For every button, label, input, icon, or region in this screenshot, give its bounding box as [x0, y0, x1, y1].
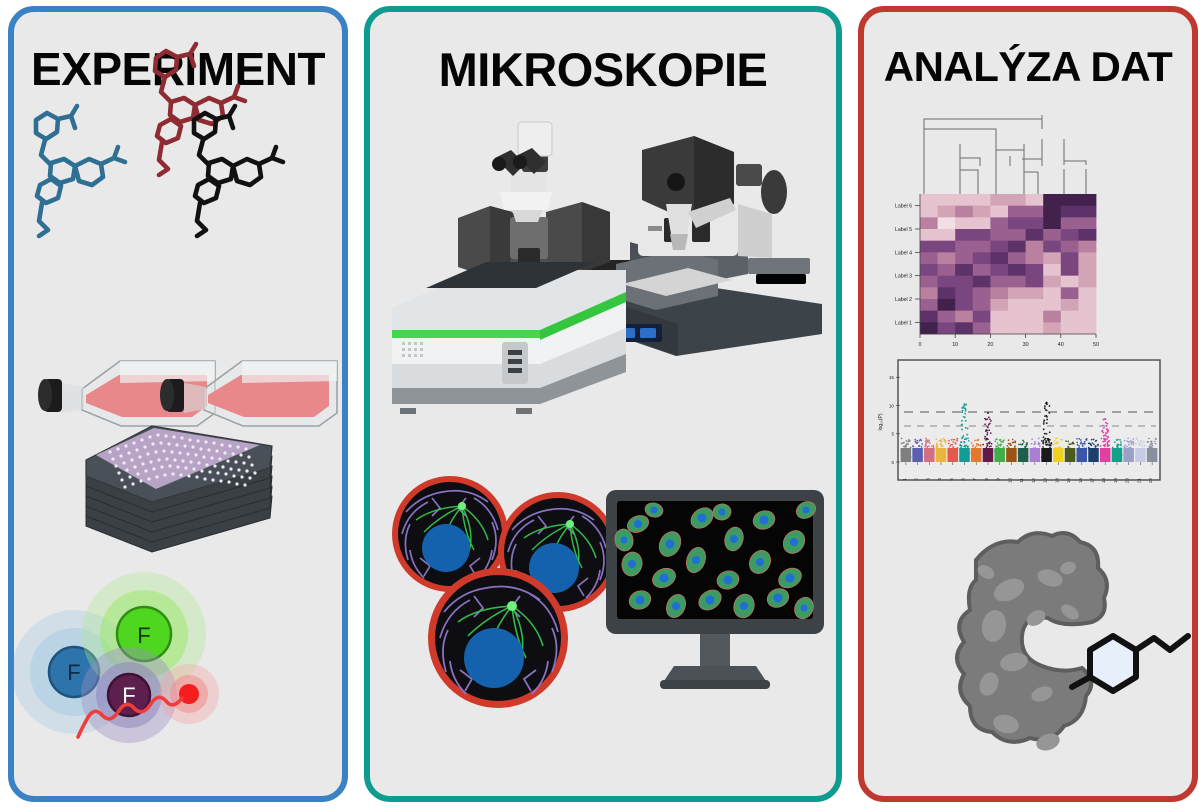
fluorophore-green-label: F	[137, 623, 150, 648]
manhattan-point	[1054, 448, 1056, 450]
manhattan-point	[1081, 453, 1083, 455]
heatmap-cell	[973, 276, 991, 288]
manhattan-point	[1140, 453, 1142, 455]
manhattan-point	[997, 442, 999, 444]
manhattan-point	[982, 444, 984, 446]
heatmap-x-tick-label: 40	[1058, 342, 1064, 348]
heatmap-cell	[1008, 322, 1026, 334]
heatmap-cell	[920, 311, 938, 323]
manhattan-point	[1136, 437, 1138, 439]
manhattan-point	[1000, 443, 1002, 445]
manhattan-point	[1090, 444, 1092, 446]
manhattan-point	[912, 451, 914, 453]
manhattan-point	[1013, 448, 1015, 450]
manhattan-x-tick-label: 3	[925, 478, 930, 481]
panel-experiment: EXPERIMENT	[8, 6, 348, 802]
heatmap-cell	[973, 229, 991, 241]
manhattan-point	[1091, 457, 1093, 459]
manhattan-peak-point	[962, 435, 964, 437]
manhattan-x-tick-label: 10	[1007, 478, 1012, 484]
manhattan-point	[1009, 457, 1011, 459]
manhattan-peak-point	[1045, 438, 1047, 440]
manhattan-point	[976, 443, 978, 445]
manhattan-point	[965, 438, 967, 440]
manhattan-peak-point	[984, 438, 986, 440]
heatmap-cell	[1026, 311, 1044, 323]
manhattan-peak-point	[986, 418, 988, 420]
manhattan-point	[916, 458, 918, 460]
manhattan-point	[1131, 442, 1133, 444]
heatmap-dendrogram: Label 1Label 2Label 3Label 4Label 5Label…	[895, 115, 1099, 348]
manhattan-point	[1152, 448, 1154, 450]
manhattan-point	[949, 457, 951, 459]
manhattan-point	[928, 445, 930, 447]
manhattan-point	[921, 446, 923, 448]
manhattan-point	[1061, 452, 1063, 454]
heatmap-cell	[1008, 241, 1026, 253]
manhattan-point	[1149, 455, 1151, 457]
manhattan-point	[1149, 444, 1151, 446]
manhattan-point	[1141, 445, 1143, 447]
manhattan-point	[1018, 452, 1020, 454]
manhattan-point	[1101, 450, 1103, 452]
manhattan-point	[921, 448, 923, 450]
manhattan-point	[1097, 444, 1099, 446]
manhattan-point	[1014, 452, 1016, 454]
manhattan-point	[1068, 452, 1070, 454]
manhattan-point	[967, 445, 969, 447]
manhattan-y-tick-label: 15	[889, 375, 895, 380]
manhattan-point	[903, 457, 905, 459]
manhattan-point	[1085, 452, 1087, 454]
heatmap-cell	[990, 252, 1008, 264]
manhattan-point	[1072, 454, 1074, 456]
heatmap-cell	[1078, 206, 1096, 218]
manhattan-point	[1057, 451, 1059, 453]
manhattan-point	[1046, 444, 1048, 446]
manhattan-point	[1035, 453, 1037, 455]
heatmap-cell	[1061, 311, 1079, 323]
manhattan-point	[916, 448, 918, 450]
manhattan-point	[960, 452, 962, 454]
manhattan-x-tick-label: 8	[984, 478, 989, 481]
manhattan-peak-point	[989, 441, 991, 443]
manhattan-point	[1046, 452, 1048, 454]
manhattan-point	[942, 445, 944, 447]
heatmap-cell	[920, 206, 938, 218]
manhattan-point	[1153, 452, 1155, 454]
manhattan-point	[957, 447, 959, 449]
heatmap-cell	[920, 194, 938, 206]
manhattan-point	[925, 444, 927, 446]
manhattan-point	[1059, 451, 1061, 453]
manhattan-point	[1034, 454, 1036, 456]
manhattan-point	[901, 449, 903, 451]
heatmap-cell	[1008, 311, 1026, 323]
manhattan-point	[978, 439, 980, 441]
manhattan-point	[956, 440, 958, 442]
manhattan-point	[984, 448, 986, 450]
heatmap-x-tick-label: 0	[919, 342, 922, 348]
manhattan-point	[931, 445, 933, 447]
manhattan-point	[1114, 441, 1116, 443]
manhattan-peak-point	[1046, 441, 1048, 443]
manhattan-point	[999, 450, 1001, 452]
heatmap-cell	[1026, 299, 1044, 311]
manhattan-point	[1025, 455, 1027, 457]
manhattan-point	[1071, 458, 1073, 460]
manhattan-point	[952, 441, 954, 443]
manhattan-peak-point	[1049, 405, 1051, 407]
manhattan-point	[1018, 444, 1020, 446]
manhattan-point	[1114, 456, 1116, 458]
manhattan-point	[1135, 443, 1137, 445]
manhattan-point	[1070, 448, 1072, 450]
manhattan-point	[927, 446, 929, 448]
manhattan-point	[1051, 442, 1053, 444]
manhattan-point	[996, 451, 998, 453]
manhattan-peak-point	[963, 407, 965, 409]
heatmap-cell	[955, 287, 973, 299]
manhattan-point	[1137, 440, 1139, 442]
manhattan-peak-point	[1046, 422, 1048, 424]
manhattan-point	[1151, 445, 1153, 447]
manhattan-point	[1152, 450, 1154, 452]
manhattan-point	[1057, 447, 1059, 449]
manhattan-point	[901, 438, 903, 440]
manhattan-point	[968, 440, 970, 442]
heatmap-cell	[1043, 206, 1061, 218]
manhattan-point	[1039, 445, 1041, 447]
manhattan-point	[1152, 453, 1154, 455]
heatmap-cell	[1026, 322, 1044, 334]
heatmap-cell	[1008, 194, 1026, 206]
manhattan-point	[1080, 441, 1082, 443]
manhattan-point	[1080, 439, 1082, 441]
manhattan-point	[1047, 440, 1049, 442]
manhattan-point	[1022, 457, 1024, 459]
manhattan-point	[1120, 453, 1122, 455]
manhattan-point	[1148, 438, 1150, 440]
heatmap-cell	[990, 194, 1008, 206]
heatmap-cell	[1043, 194, 1061, 206]
manhattan-peak-point	[984, 436, 986, 438]
manhattan-peak-point	[961, 420, 963, 422]
manhattan-point	[1124, 450, 1126, 452]
manhattan-point	[1053, 444, 1055, 446]
manhattan-point	[924, 453, 926, 455]
manhattan-peak-point	[963, 441, 965, 443]
manhattan-point	[921, 443, 923, 445]
manhattan-point	[937, 451, 939, 453]
manhattan-point	[1119, 439, 1121, 441]
manhattan-point	[926, 454, 928, 456]
manhattan-point	[1038, 438, 1040, 440]
heatmap-cell	[1078, 194, 1096, 206]
manhattan-point	[1003, 446, 1005, 448]
manhattan-point	[1108, 456, 1110, 458]
manhattan-point	[973, 450, 975, 452]
manhattan-point	[965, 455, 967, 457]
heatmap-cell	[1061, 194, 1079, 206]
manhattan-point	[1091, 442, 1093, 444]
manhattan-point	[1083, 458, 1085, 460]
manhattan-point	[1042, 446, 1044, 448]
heatmap-row-label: Label 4	[895, 250, 912, 256]
heatmap-cell	[1078, 299, 1096, 311]
manhattan-peak-point	[1104, 439, 1106, 441]
manhattan-point	[914, 449, 916, 451]
manhattan-point	[907, 443, 909, 445]
manhattan-point	[1060, 439, 1062, 441]
manhattan-point	[938, 453, 940, 455]
manhattan-point	[1031, 438, 1033, 440]
manhattan-point	[1086, 439, 1088, 441]
manhattan-point	[922, 456, 924, 458]
manhattan-point	[928, 441, 930, 443]
manhattan-peak-point	[967, 428, 969, 430]
heatmap-cell	[920, 241, 938, 253]
heatmap-cell	[920, 252, 938, 264]
manhattan-point	[971, 452, 973, 454]
manhattan-point	[1038, 442, 1040, 444]
manhattan-peak-point	[989, 423, 991, 425]
manhattan-point	[1143, 454, 1145, 456]
manhattan-point	[1050, 445, 1052, 447]
heatmap-cell	[955, 311, 973, 323]
manhattan-point	[984, 457, 986, 459]
heatmap-row-label: Label 3	[895, 274, 912, 280]
manhattan-point	[1007, 445, 1009, 447]
manhattan-point	[1035, 456, 1037, 458]
manhattan-point	[928, 458, 930, 460]
manhattan-x-tick-label: 6	[961, 478, 966, 481]
manhattan-point	[1022, 450, 1024, 452]
manhattan-point	[1082, 445, 1084, 447]
manhattan-point	[1015, 440, 1017, 442]
manhattan-point	[1055, 449, 1057, 451]
manhattan-peak-point	[986, 434, 988, 436]
manhattan-point	[1078, 447, 1080, 449]
heatmap-cell	[938, 217, 956, 229]
stained-cell-3	[428, 568, 568, 708]
heatmap-cell	[990, 229, 1008, 241]
manhattan-point	[1013, 449, 1015, 451]
heatmap-cell	[1061, 299, 1079, 311]
heatmap-cell	[920, 299, 938, 311]
manhattan-point	[1014, 457, 1016, 459]
heatmap-cell	[955, 229, 973, 241]
manhattan-point	[929, 455, 931, 457]
manhattan-point	[1089, 451, 1091, 453]
heatmap-cell	[973, 252, 991, 264]
heatmap-cell	[938, 229, 956, 241]
manhattan-point	[940, 447, 942, 449]
manhattan-point	[1120, 443, 1122, 445]
heatmap-row-label: Label 5	[895, 227, 912, 233]
manhattan-point	[1108, 445, 1110, 447]
heatmap-cell	[990, 299, 1008, 311]
molecule-cluster-black	[194, 106, 283, 236]
heatmap-cell	[1061, 206, 1079, 218]
manhattan-peak-point	[1046, 416, 1048, 418]
manhattan-point	[904, 446, 906, 448]
manhattan-point	[918, 450, 920, 452]
manhattan-point	[995, 448, 997, 450]
manhattan-point	[1055, 455, 1057, 457]
manhattan-point	[1048, 445, 1050, 447]
manhattan-point	[925, 440, 927, 442]
manhattan-point	[1019, 456, 1021, 458]
manhattan-point	[1067, 441, 1069, 443]
manhattan-point	[1067, 452, 1069, 454]
manhattan-point	[1143, 441, 1145, 443]
manhattan-peak-point	[1103, 427, 1105, 429]
manhattan-point	[1023, 441, 1025, 443]
heatmap-cell	[1078, 276, 1096, 288]
manhattan-point	[1093, 439, 1095, 441]
manhattan-point	[1001, 450, 1003, 452]
manhattan-point	[953, 447, 955, 449]
protein-blob	[957, 533, 1107, 742]
manhattan-point	[1074, 454, 1076, 456]
manhattan-point	[1062, 449, 1064, 451]
manhattan-point	[1150, 446, 1152, 448]
heatmap-cell	[1043, 241, 1061, 253]
manhattan-point	[1033, 455, 1035, 457]
manhattan-x-tick-label: 16	[1078, 478, 1083, 484]
manhattan-point	[931, 456, 933, 458]
manhattan-point	[901, 453, 903, 455]
manhattan-point	[945, 457, 947, 459]
manhattan-peak-point	[990, 432, 992, 434]
manhattan-point	[986, 451, 988, 453]
manhattan-point	[960, 449, 962, 451]
heatmap-cell	[1008, 299, 1026, 311]
manhattan-point	[1088, 447, 1090, 449]
manhattan-point	[1084, 441, 1086, 443]
manhattan-point	[1139, 442, 1141, 444]
heatmap-cell	[955, 194, 973, 206]
manhattan-x-tick-label: 7	[972, 478, 977, 481]
manhattan-point	[1027, 453, 1029, 455]
manhattan-point	[1092, 453, 1094, 455]
manhattan-point	[903, 449, 905, 451]
manhattan-point	[1107, 441, 1109, 443]
heatmap-cell	[1078, 287, 1096, 299]
manhattan-point	[944, 439, 946, 441]
heatmap-cell	[1026, 194, 1044, 206]
manhattan-point	[967, 456, 969, 458]
manhattan-peak-point	[1046, 433, 1048, 435]
manhattan-point	[1136, 452, 1138, 454]
manhattan-peak-point	[961, 411, 963, 413]
manhattan-point	[1076, 438, 1078, 440]
manhattan-point	[1014, 445, 1016, 447]
manhattan-point	[984, 450, 986, 452]
manhattan-point	[971, 442, 973, 444]
heatmap-x-tick-label: 30	[1023, 342, 1029, 348]
manhattan-point	[1096, 450, 1098, 452]
heatmap-cell	[1061, 229, 1079, 241]
manhattan-point	[1034, 447, 1036, 449]
manhattan-peak-point	[961, 441, 963, 443]
manhattan-peak-point	[1103, 419, 1105, 421]
manhattan-peak-point	[963, 416, 965, 418]
heatmap-cell	[1043, 299, 1061, 311]
heatmap-cell	[1078, 241, 1096, 253]
heatmap-x-tick-label: 10	[952, 342, 958, 348]
manhattan-point	[1135, 448, 1137, 450]
fluorophore-blue-label: F	[67, 660, 80, 685]
manhattan-point	[995, 438, 997, 440]
heatmap-cell	[1026, 241, 1044, 253]
heatmap-cell	[938, 194, 956, 206]
manhattan-y-label: log₁₀(P)	[878, 413, 884, 430]
heatmap-cell	[1078, 229, 1096, 241]
manhattan-point	[1107, 452, 1109, 454]
manhattan-point	[947, 452, 949, 454]
manhattan-point	[1043, 455, 1045, 457]
manhattan-point	[917, 442, 919, 444]
molecule-cluster-blue	[36, 106, 125, 236]
manhattan-point	[1139, 449, 1141, 451]
manhattan-point	[1121, 455, 1123, 457]
manhattan-point	[914, 439, 916, 441]
manhattan-peak-point	[1047, 438, 1049, 440]
heatmap-cell	[990, 206, 1008, 218]
manhattan-point	[1095, 454, 1097, 456]
manhattan-point	[980, 445, 982, 447]
manhattan-point	[1033, 452, 1035, 454]
heatmap-x-tick-label: 20	[987, 342, 993, 348]
panel-data-analysis: ANALÝZA DAT	[858, 6, 1198, 802]
heatmap-cell	[1008, 287, 1026, 299]
manhattan-point	[1054, 451, 1056, 453]
heatmap-cell	[955, 322, 973, 334]
manhattan-point	[1067, 456, 1069, 458]
heatmap-cell	[1026, 252, 1044, 264]
heatmap-cell	[955, 299, 973, 311]
heatmap-cell	[938, 252, 956, 264]
manhattan-peak-point	[962, 410, 964, 412]
heatmap-cell	[1043, 287, 1061, 299]
manhattan-point	[977, 450, 979, 452]
manhattan-point	[912, 446, 914, 448]
manhattan-point	[971, 457, 973, 459]
manhattan-point	[930, 451, 932, 453]
heatmap-row-label: Label 2	[895, 297, 912, 303]
manhattan-peak-point	[1043, 419, 1045, 421]
manhattan-point	[1132, 438, 1134, 440]
manhattan-point	[972, 444, 974, 446]
manhattan-point	[990, 445, 992, 447]
data-analysis-artwork: Label 1Label 2Label 3Label 4Label 5Label…	[864, 12, 1192, 802]
manhattan-point	[1155, 453, 1157, 455]
heatmap-cell	[920, 217, 938, 229]
manhattan-x-tick-label: 2	[914, 478, 919, 481]
manhattan-point	[1120, 447, 1122, 449]
manhattan-point	[1008, 439, 1010, 441]
manhattan-point	[1078, 438, 1080, 440]
manhattan-point	[924, 446, 926, 448]
manhattan-x-tick-label: 5	[949, 478, 954, 481]
manhattan-point	[998, 456, 1000, 458]
manhattan-point	[1093, 451, 1095, 453]
manhattan-peak-point	[965, 408, 967, 410]
manhattan-point	[906, 440, 908, 442]
manhattan-point	[948, 440, 950, 442]
